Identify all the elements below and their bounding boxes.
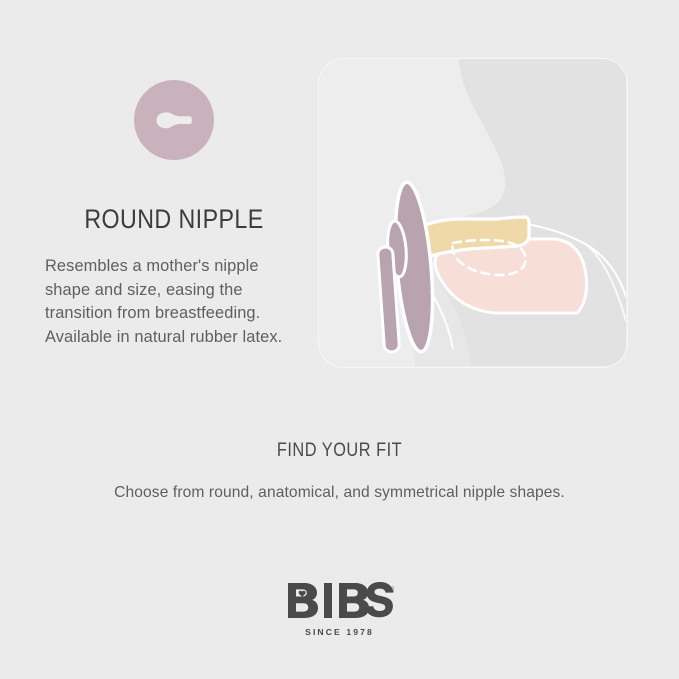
feature-badge (45, 80, 303, 180)
promo-graphic: ROUND NIPPLE Resembles a mother's nipple… (0, 0, 679, 679)
top-section: ROUND NIPPLE Resembles a mother's nipple… (0, 0, 679, 400)
head-silhouette (433, 59, 626, 366)
find-your-fit-section: FIND YOUR FIT Choose from round, anatomi… (0, 440, 679, 502)
illustration-card (318, 58, 628, 368)
registered-trademark-symbol: ® (390, 586, 394, 594)
heart-icon (298, 591, 305, 597)
brand-footer: ® SINCE 1978 (0, 582, 679, 637)
round-nipple-silhouette-icon (134, 80, 214, 160)
bibs-logo: ® (286, 582, 394, 623)
feature-description: Resembles a mother's nipple shape and si… (45, 255, 297, 349)
find-your-fit-subtitle: Choose from round, anatomical, and symme… (0, 484, 679, 502)
feature-title: ROUND NIPPLE (63, 206, 285, 233)
brand-tagline: SINCE 1978 (0, 627, 679, 637)
feature-column: ROUND NIPPLE Resembles a mother's nipple… (45, 80, 303, 349)
baby-head-cross-section-illustration (319, 59, 626, 366)
find-your-fit-title: FIND YOUR FIT (48, 440, 632, 462)
